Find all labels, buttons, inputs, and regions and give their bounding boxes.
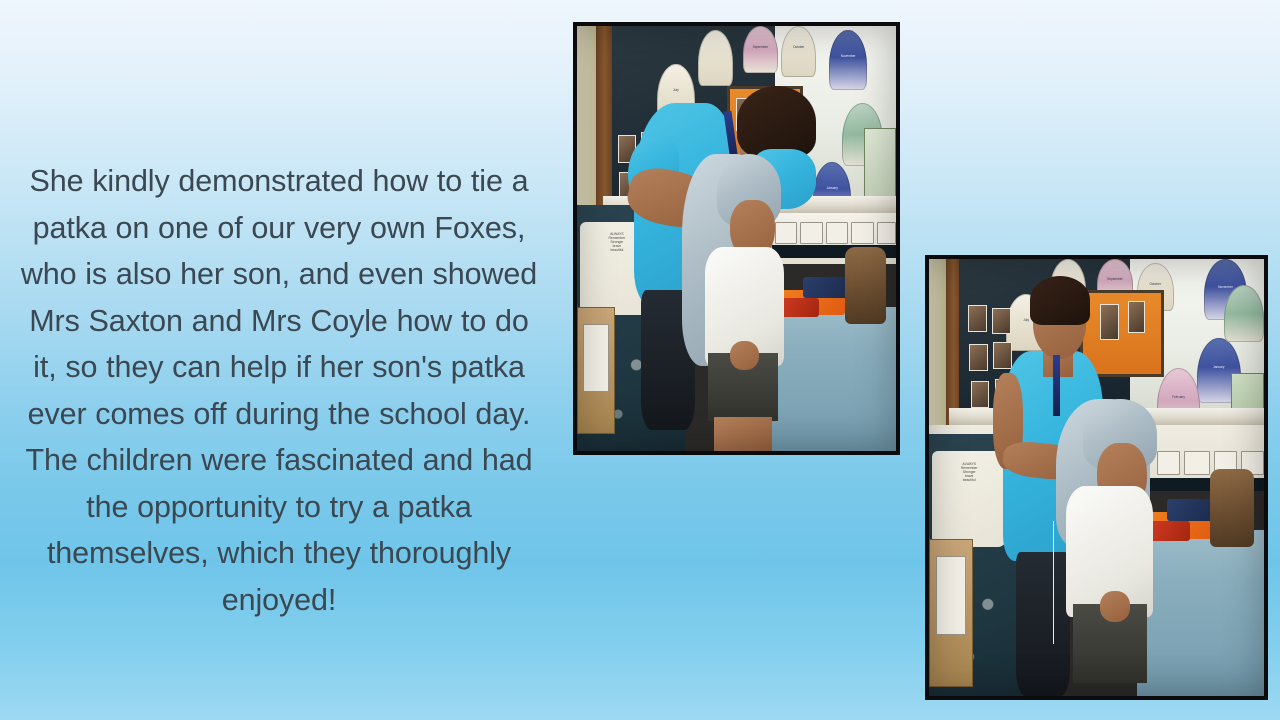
- caption-text-block: She kindly demonstrated how to tie a pat…: [14, 158, 544, 623]
- classroom-scene-1: July September October November January: [577, 26, 896, 451]
- photo-frame-2[interactable]: July September October November January …: [925, 255, 1268, 700]
- photo-vignette: [929, 259, 1264, 696]
- photo-vignette: [577, 26, 896, 451]
- photo-frame-1[interactable]: July September October November January: [573, 22, 900, 455]
- presentation-slide: She kindly demonstrated how to tie a pat…: [0, 0, 1280, 720]
- classroom-scene-2: July September October November January …: [929, 259, 1264, 696]
- slide-caption: She kindly demonstrated how to tie a pat…: [14, 158, 544, 623]
